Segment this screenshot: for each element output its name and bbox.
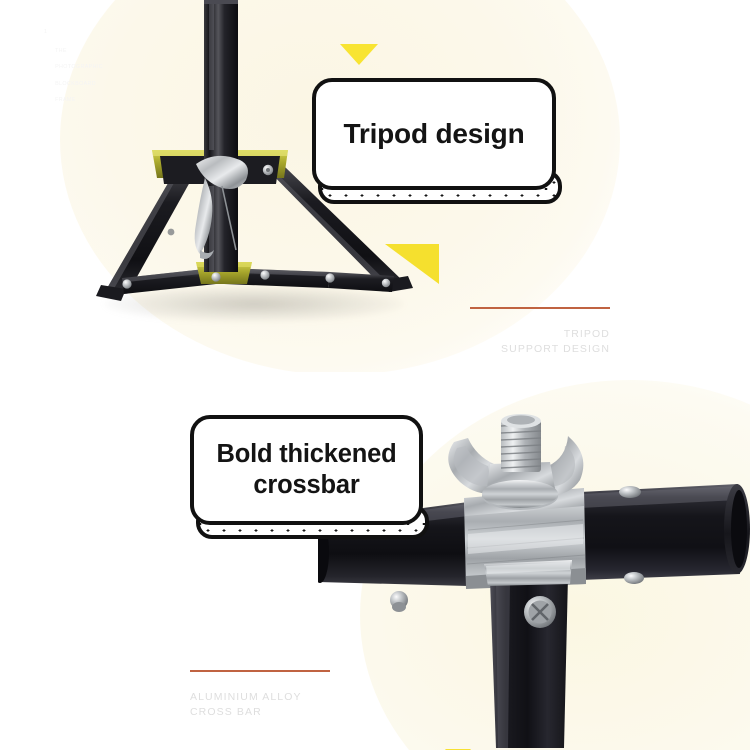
yellow-triangle-pointer [340,44,378,65]
watermark-line-1: THE [55,48,67,54]
callout-label-line-2: crossbar [253,471,359,499]
caption-line-1: TRIPOD [398,327,610,342]
watermark-brand-top: 1 THE PHOTOGRAPHIC BLOCKBOARD FRAME [44,12,103,112]
callout-tripod-design: Tripod design [312,78,556,190]
section-tripod-support-design: Tripod design TRIPOD SUPPORT DESIGN 1 TH… [0,0,750,372]
product-marketing-image: Tripod design TRIPOD SUPPORT DESIGN 1 TH… [0,0,750,750]
section-aluminium-alloy-cross-bar: Bold thickened crossbar ALUMINIUM ALLOY … [0,372,750,750]
yellow-triangle-accent-large [385,244,439,284]
callout-label: Bold thickened crossbar [217,439,397,501]
callout-body: Bold thickened crossbar [190,415,423,525]
callout-body: Tripod design [312,78,556,190]
watermark-number: 1 [44,28,103,36]
callout-label: Tripod design [344,118,525,150]
caption-aluminium-alloy-cross-bar: ALUMINIUM ALLOY CROSS BAR [190,670,420,720]
caption-line-2: CROSS BAR [190,705,420,720]
floor-shadow [104,286,404,322]
caption-divider-rule [470,307,610,309]
callout-label-line-1: Bold thickened [217,440,397,468]
caption-divider-rule [190,670,330,672]
callout-bold-thickened-crossbar: Bold thickened crossbar [190,415,423,525]
watermark-line-2: PHOTOGRAPHIC [55,64,103,70]
watermark-line-3: BLOCKBOARD [55,81,96,87]
caption-line-1: ALUMINIUM ALLOY [190,690,420,705]
watermark-line-4: FRAME [55,97,76,103]
caption-line-2: SUPPORT DESIGN [398,342,610,357]
caption-tripod-support-design: TRIPOD SUPPORT DESIGN [398,307,610,357]
